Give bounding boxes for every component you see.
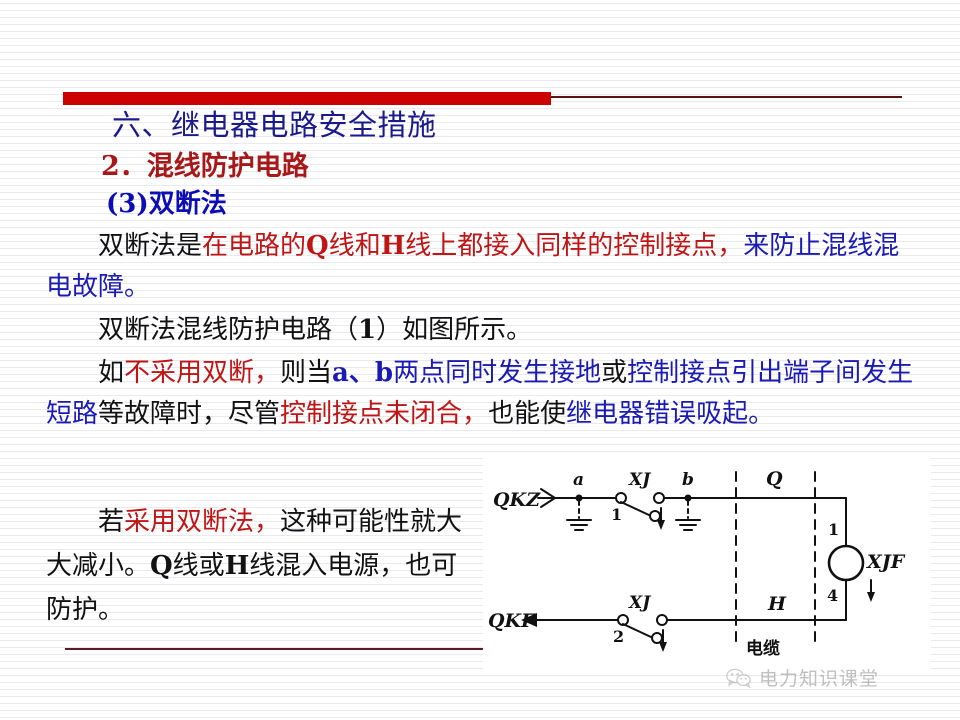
top-red-rule-thick [63, 92, 551, 105]
watermark-text: 电力知识课堂 [759, 664, 879, 691]
relay-coil-xjf [829, 546, 863, 580]
paragraph-1: 双断法是在电路的Q线和H线上都接入同样的控制接点，来防止混线混电故障。 [46, 226, 918, 308]
p3-seg11: 控制接点未闭合， [280, 399, 488, 429]
label-cable: 电缆 [746, 638, 780, 659]
paragraph-4: 若采用双断法，这种可能性就大大减小。Q线或H线混入电源，也可防护。 [46, 500, 466, 632]
p3-seg7: 控制接点 [627, 358, 731, 388]
subsection-heading: 2．混线防护电路 [101, 151, 309, 183]
p3-seg12: 也能 [488, 399, 540, 429]
p4-seg4: Q [150, 551, 173, 581]
top-red-rule-thin [551, 96, 902, 98]
body-text: 双断法是在电路的Q线和H线上都接入同样的控制接点，来防止混线混电故障。 双断法混… [46, 226, 918, 437]
contact-terminal-1-right [654, 493, 664, 503]
label-qkf: QKF [488, 610, 536, 632]
label-contact-num-bottom: 2 [613, 627, 624, 646]
p3-seg1: 如 [98, 358, 124, 388]
p2-seg1: 双断法混线防护电路（ [98, 315, 358, 345]
p3-seg9: 等故障时， [98, 399, 228, 429]
label-node-b: b [682, 470, 694, 490]
label-node-a: a [573, 470, 584, 490]
p1-seg6: 线上都接入同样的控制接点， [405, 231, 743, 261]
contact-blade-tip-2 [652, 633, 662, 643]
p3-seg10: 尽管 [228, 399, 280, 429]
watermark: 电力知识课堂 [726, 664, 879, 691]
label-q-line: Q [766, 468, 783, 490]
p4-seg2: 采用双断法， [124, 507, 280, 537]
p3-seg6: 或 [601, 358, 627, 388]
p1-seg4: 线和 [329, 231, 381, 261]
p2-seg3: ）如图所示。 [376, 315, 532, 345]
p2-seg2: 1 [358, 315, 376, 345]
p4-seg5: 线或 [173, 551, 225, 581]
slide-canvas: 六、继电器电路安全措施 2．混线防护电路 (3)双断法 双断法是在电路的Q线和H… [0, 0, 960, 720]
p3-seg13: 使 [540, 399, 566, 429]
p1-seg1: 双断法是 [98, 231, 202, 261]
wechat-icon [726, 668, 752, 688]
p1-seg3: Q [306, 231, 329, 261]
circuit-diagram-figure: QKZ QKF a b XJ XJ 1 2 Q H XJF 1 4 电缆 [483, 458, 931, 670]
paragraph-2: 双断法混线防护电路（1）如图所示。 [46, 310, 918, 351]
label-coil-xjf: XJF [866, 551, 906, 573]
label-terminal-top: 1 [828, 520, 839, 539]
subsubsection-heading: (3)双断法 [106, 189, 227, 220]
label-qkz: QKZ [493, 489, 541, 511]
contact-terminal-2-right [657, 615, 667, 625]
p1-seg2: 在电路的 [202, 231, 306, 261]
label-contact-num-top: 1 [611, 505, 622, 524]
p3-seg14: 继电器错误吸起。 [566, 399, 774, 429]
label-h-line: H [767, 593, 787, 615]
label-terminal-bottom: 4 [827, 586, 838, 605]
p1-seg5: H [381, 231, 406, 261]
p3-seg4: a、b [332, 358, 393, 388]
p3-seg2: 不采用双断， [124, 358, 280, 388]
p4-seg6: H [225, 551, 250, 581]
label-xj-top: XJ [628, 470, 651, 490]
section-heading: 六、继电器电路安全措施 [112, 108, 437, 142]
p4-seg1: 若 [98, 507, 124, 537]
p3-seg3: 则当 [280, 358, 332, 388]
paragraph-3: 如不采用双断，则当a、b两点同时发生接地或控制接点引出端子间发生短路等故障时，尽… [46, 353, 918, 435]
contact-blade-tip-1 [650, 511, 660, 521]
label-xj-bottom: XJ [628, 593, 651, 613]
p3-seg5: 两点同时发生接地 [393, 358, 601, 388]
